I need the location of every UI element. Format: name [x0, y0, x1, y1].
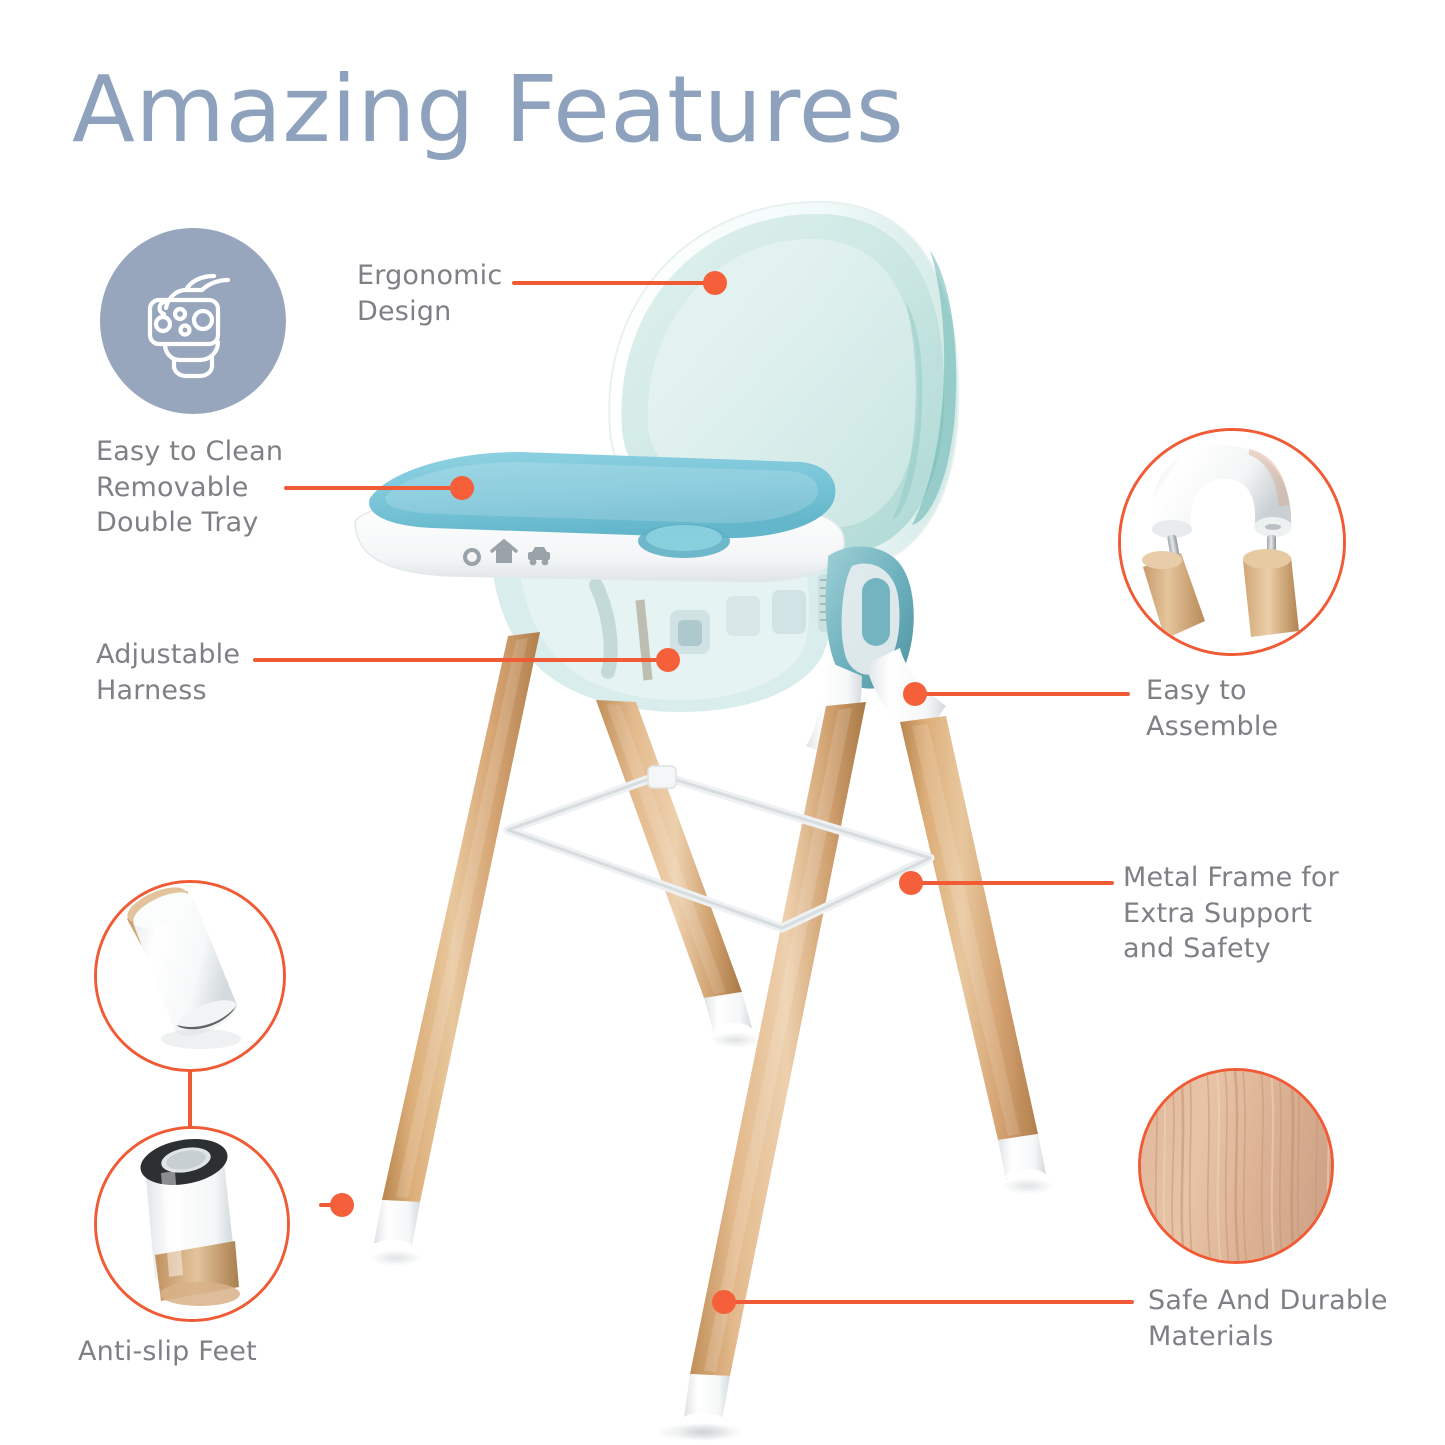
label-safe-durable-materials: Safe And Durable Materials [1148, 1283, 1445, 1354]
dot-metal-frame [899, 871, 923, 895]
dot-adjustable-harness [656, 648, 680, 672]
inset-wood-grain-photo [1138, 1068, 1334, 1264]
inset-leg-connector-photo [1118, 428, 1346, 656]
leader-ergonomic-design [512, 281, 714, 285]
infographic-canvas: Amazing Features [0, 0, 1445, 1445]
leader-metal-frame [918, 881, 1114, 885]
leader-adjustable-harness [253, 658, 667, 662]
dot-easy-to-assemble [903, 682, 927, 706]
dot-easy-to-clean [450, 476, 474, 500]
label-easy-to-assemble: Easy to Assemble [1146, 673, 1396, 744]
leg-rear-right [900, 716, 1054, 1194]
label-metal-frame: Metal Frame for Extra Support and Safety [1123, 860, 1403, 967]
inset-foot-cap-photo [94, 880, 286, 1072]
leader-easy-to-clean [284, 486, 474, 490]
leg-rear-left [370, 614, 560, 1266]
dot-anti-slip-feet [330, 1193, 354, 1217]
easy-to-clean-icon-badge [100, 228, 286, 414]
dot-ergonomic-design [703, 271, 727, 295]
removable-double-tray [355, 452, 844, 582]
leader-safe-durable-materials [730, 1300, 1134, 1304]
frame-clamp [648, 766, 676, 788]
label-adjustable-harness: Adjustable Harness [96, 637, 356, 708]
metal-support-frame-shade [508, 775, 930, 928]
leader-easy-to-assemble [918, 692, 1130, 696]
label-anti-slip-feet: Anti-slip Feet [78, 1334, 338, 1370]
inset-connector-left [188, 1070, 192, 1128]
label-ergonomic-design: Ergonomic Design [357, 258, 577, 329]
inset-anti-slip-ring-photo [94, 1126, 290, 1322]
dot-safe-durable-materials [712, 1290, 736, 1314]
hand-sponge-clean-icon [128, 256, 258, 386]
